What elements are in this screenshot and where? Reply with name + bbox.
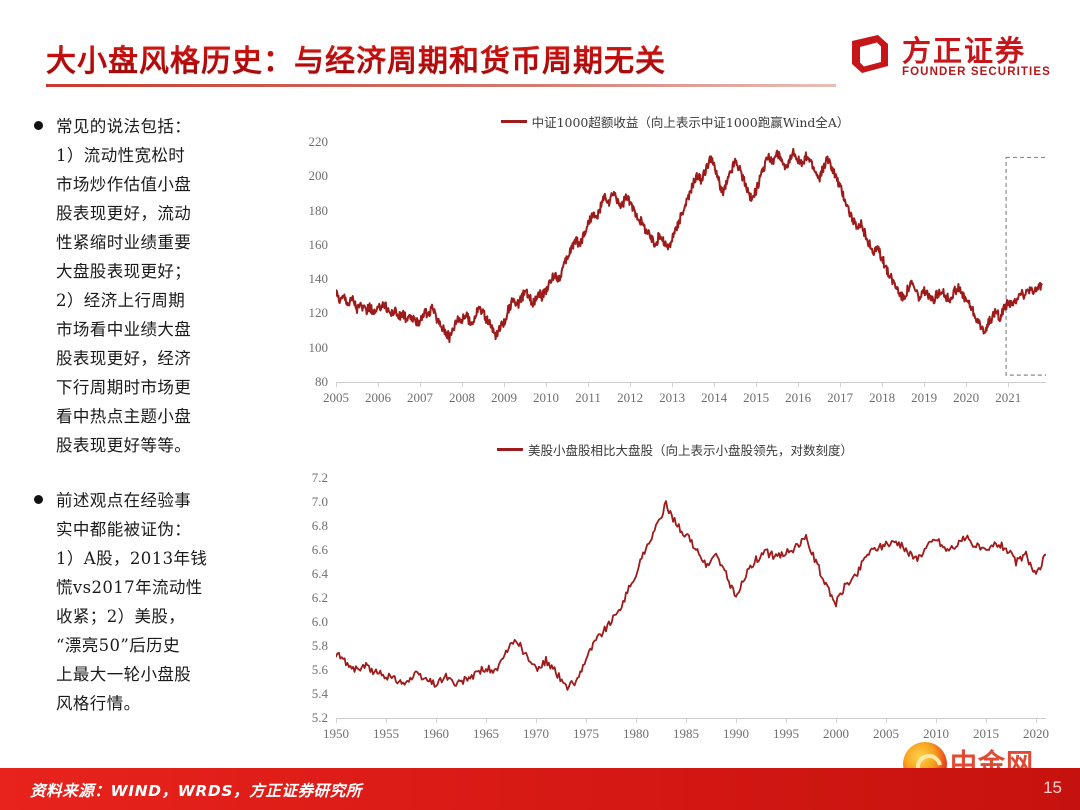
x-axis-tick-label: 2020 (1023, 726, 1049, 742)
x-axis-line (336, 718, 1046, 719)
x-axis-tick-label: 1980 (623, 726, 649, 742)
y-axis-tick-label: 6.4 (312, 566, 328, 582)
x-axis-tick (936, 718, 937, 723)
y-axis-tick-label: 7.0 (312, 494, 328, 510)
legend-label: 中证1000超额收益（向上表示中证1000跑赢Wind全A） (532, 112, 850, 131)
x-axis-tick-label: 2014 (701, 390, 727, 406)
x-axis-tick (966, 382, 967, 387)
x-axis-tick (756, 382, 757, 387)
x-axis-tick (486, 718, 487, 723)
x-axis-tick (504, 382, 505, 387)
x-axis-tick-label: 2012 (617, 390, 643, 406)
x-axis-tick (736, 718, 737, 723)
x-axis-tick (630, 382, 631, 387)
x-axis-tick (686, 718, 687, 723)
founder-logo-icon (848, 32, 892, 76)
x-axis-tick-label: 2016 (785, 390, 811, 406)
chart-line-series (336, 478, 1046, 718)
y-axis-tick-label: 180 (309, 203, 329, 219)
x-axis-tick-label: 2007 (407, 390, 433, 406)
source-note: 资料来源：WIND，WRDS，方正证券研究所 (30, 779, 362, 801)
y-axis-tick-label: 80 (315, 374, 328, 390)
x-axis-tick-label: 1975 (573, 726, 599, 742)
x-axis-tick-label: 2000 (823, 726, 849, 742)
x-axis-tick (386, 718, 387, 723)
chart-plot-area: 8010012014016018020022020052006200720082… (336, 142, 1046, 382)
y-axis-tick-label: 6.8 (312, 518, 328, 534)
slide: 大小盘风格历史：与经济周期和货币周期无关 方正证券 FOUNDER SECURI… (0, 0, 1080, 810)
x-axis-tick (714, 382, 715, 387)
x-axis-tick-label: 1985 (673, 726, 699, 742)
chart-csi1000-excess-return: 中证1000超额收益（向上表示中证1000跑赢Wind全A） 801001201… (290, 112, 1060, 412)
x-axis-tick-label: 2018 (869, 390, 895, 406)
x-axis-tick-label: 2013 (659, 390, 685, 406)
y-axis-tick-label: 6.2 (312, 590, 328, 606)
x-axis-tick (546, 382, 547, 387)
y-axis-tick-label: 120 (309, 305, 329, 321)
bullet-dot-icon (34, 121, 43, 130)
y-axis-tick-label: 6.6 (312, 542, 328, 558)
x-axis-tick-label: 2015 (743, 390, 769, 406)
y-axis-tick-label: 200 (309, 168, 329, 184)
x-axis-tick-label: 2011 (575, 390, 601, 406)
x-axis-tick (336, 718, 337, 723)
x-axis-tick-label: 2006 (365, 390, 391, 406)
x-axis-tick-label: 2005 (873, 726, 899, 742)
page-title: 大小盘风格历史：与经济周期和货币周期无关 (46, 36, 666, 80)
x-axis-tick-label: 2019 (911, 390, 937, 406)
slide-header: 大小盘风格历史：与经济周期和货币周期无关 方正证券 FOUNDER SECURI… (0, 0, 1080, 100)
x-axis-tick-label: 2015 (973, 726, 999, 742)
x-axis-tick (636, 718, 637, 723)
x-axis-tick (378, 382, 379, 387)
x-axis-tick (588, 382, 589, 387)
x-axis-tick-label: 2020 (953, 390, 979, 406)
x-axis-tick-label: 2010 (533, 390, 559, 406)
x-axis-tick-label: 1960 (423, 726, 449, 742)
bullet-text: 前述观点在经验事 实中都能被证伪： 1）A股，2013年钱 慌vs2017年流动… (56, 486, 207, 718)
y-axis-tick-label: 6.0 (312, 614, 328, 630)
x-axis-tick (882, 382, 883, 387)
legend-label: 美股小盘股相比大盘股（向上表示小盘股领先，对数刻度） (528, 440, 853, 459)
x-axis-tick (436, 718, 437, 723)
x-axis-tick (1036, 718, 1037, 723)
y-axis-tick-label: 5.8 (312, 638, 328, 654)
x-axis-tick-label: 1955 (373, 726, 399, 742)
x-axis-tick-label: 1950 (323, 726, 349, 742)
y-axis-tick-label: 220 (309, 134, 329, 150)
logo-chinese-name: 方正证券 (902, 28, 1026, 70)
x-axis-tick (836, 718, 837, 723)
y-axis-tick-label: 5.2 (312, 710, 328, 726)
x-axis-tick-label: 1995 (773, 726, 799, 742)
legend-color-swatch (497, 448, 523, 451)
x-axis-tick (924, 382, 925, 387)
x-axis-tick (462, 382, 463, 387)
x-axis-tick (420, 382, 421, 387)
list-item: 前述观点在经验事 实中都能被证伪： 1）A股，2013年钱 慌vs2017年流动… (34, 486, 286, 718)
x-axis-tick (536, 718, 537, 723)
x-axis-tick (786, 718, 787, 723)
x-axis-tick (1008, 382, 1009, 387)
x-axis-tick (986, 718, 987, 723)
chart-legend: 中证1000超额收益（向上表示中证1000跑赢Wind全A） (290, 112, 1060, 131)
x-axis-tick-label: 2009 (491, 390, 517, 406)
bullet-list: 常见的说法包括： 1）流动性宽松时 市场炒作估值小盘 股表现更好，流动 性紧缩时… (34, 112, 286, 744)
x-axis-tick-label: 1990 (723, 726, 749, 742)
x-axis-tick-label: 2005 (323, 390, 349, 406)
x-axis-tick (840, 382, 841, 387)
x-axis-tick-label: 2017 (827, 390, 853, 406)
y-axis-tick-label: 100 (309, 340, 329, 356)
x-axis-tick-label: 2008 (449, 390, 475, 406)
chart-us-small-vs-large: 美股小盘股相比大盘股（向上表示小盘股领先，对数刻度） 5.25.45.65.86… (290, 440, 1060, 750)
y-axis-tick-label: 5.6 (312, 662, 328, 678)
chart-legend: 美股小盘股相比大盘股（向上表示小盘股领先，对数刻度） (290, 440, 1060, 459)
x-axis-tick-label: 1970 (523, 726, 549, 742)
x-axis-tick-label: 2021 (995, 390, 1021, 406)
slide-footer: 资料来源：WIND，WRDS，方正证券研究所 15 (0, 768, 1080, 810)
chart-line-series (336, 142, 1046, 382)
y-axis-tick-label: 140 (309, 271, 329, 287)
y-axis-tick-label: 5.4 (312, 686, 328, 702)
company-logo: 方正证券 FOUNDER SECURITIES (848, 28, 1058, 90)
list-item: 常见的说法包括： 1）流动性宽松时 市场炒作估值小盘 股表现更好，流动 性紧缩时… (34, 112, 286, 460)
x-axis-tick (672, 382, 673, 387)
x-axis-tick-label: 2010 (923, 726, 949, 742)
page-number: 15 (1043, 778, 1062, 798)
x-axis-tick (586, 718, 587, 723)
logo-english-name: FOUNDER SECURITIES (902, 66, 1051, 78)
x-axis-tick (798, 382, 799, 387)
chart-plot-area: 5.25.45.65.86.06.26.46.66.87.07.21950195… (336, 478, 1046, 718)
x-axis-tick (886, 718, 887, 723)
x-axis-line (336, 382, 1046, 383)
x-axis-tick-label: 1965 (473, 726, 499, 742)
y-axis-tick-label: 7.2 (312, 470, 328, 486)
bullet-text: 常见的说法包括： 1）流动性宽松时 市场炒作估值小盘 股表现更好，流动 性紧缩时… (56, 112, 191, 460)
bullet-dot-icon (34, 495, 43, 504)
legend-color-swatch (501, 120, 527, 123)
x-axis-tick (336, 382, 337, 387)
title-underline (46, 84, 836, 87)
y-axis-tick-label: 160 (309, 237, 329, 253)
